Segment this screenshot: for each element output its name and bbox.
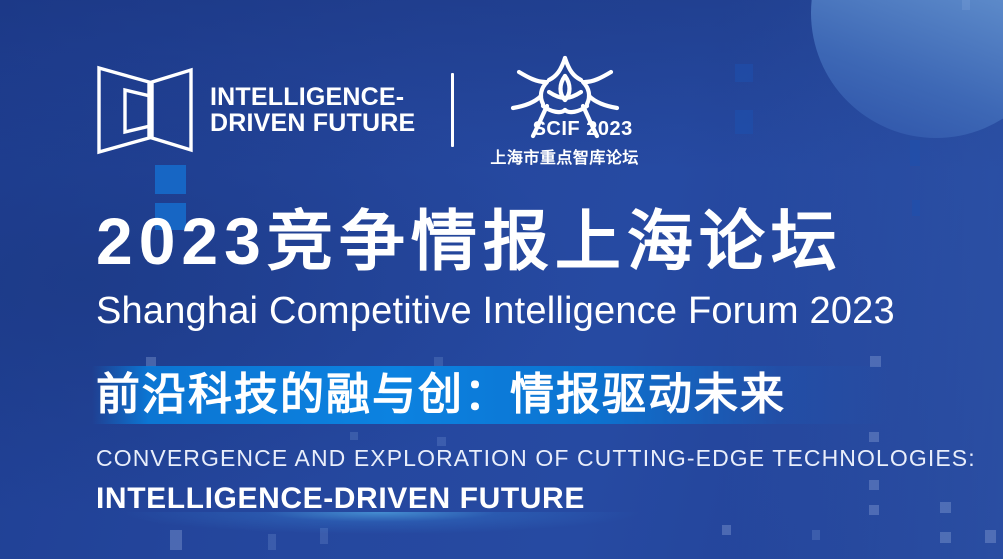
brand-name: INTELLIGENCE- DRIVEN FUTURE xyxy=(210,84,415,137)
decorative-pixel xyxy=(350,432,358,440)
decorative-pixel xyxy=(985,530,996,543)
decorative-pixel xyxy=(962,0,970,10)
decorative-pixel xyxy=(940,532,951,543)
page-title-en: Shanghai Competitive Intelligence Forum … xyxy=(96,292,895,330)
theme-subtitle-en-line1: CONVERGENCE AND EXPLORATION OF CUTTING-E… xyxy=(96,447,976,470)
decorative-square xyxy=(910,140,920,166)
theme-subtitle-en-line2: INTELLIGENCE-DRIVEN FUTURE xyxy=(96,484,585,514)
decorative-pixel xyxy=(812,530,820,540)
theme-title-cn: 前沿科技的融与创：情报驱动未来 xyxy=(96,368,786,422)
scif-logo: SCIF 2023 上海市重点智库论坛 xyxy=(490,52,639,168)
decorative-pixel xyxy=(320,528,328,544)
decorative-pixel xyxy=(869,432,879,442)
decorative-pixel xyxy=(869,505,879,515)
decorative-pixel xyxy=(869,480,879,490)
decorative-pixel xyxy=(722,525,731,535)
page-title-cn: 2023竞争情报上海论坛 xyxy=(96,208,843,274)
decorative-square xyxy=(735,110,753,134)
bottom-glow xyxy=(120,512,640,534)
open-door-logo-icon xyxy=(94,60,196,160)
decorative-pixel xyxy=(268,534,276,550)
decorative-pixel xyxy=(940,502,951,513)
decorative-square xyxy=(155,165,186,194)
scif-code: SCIF 2023 xyxy=(533,118,633,141)
decorative-circle xyxy=(811,0,1003,138)
conference-poster: INTELLIGENCE- DRIVEN FUTURE xyxy=(0,0,1003,559)
scif-chinese-name: 上海市重点智库论坛 xyxy=(490,144,639,168)
decorative-pixel xyxy=(170,530,182,550)
logo-row: INTELLIGENCE- DRIVEN FUTURE xyxy=(94,56,639,164)
logo-divider xyxy=(451,73,454,147)
decorative-square xyxy=(735,64,753,82)
decorative-square xyxy=(912,200,920,216)
decorative-pixel xyxy=(434,357,443,366)
